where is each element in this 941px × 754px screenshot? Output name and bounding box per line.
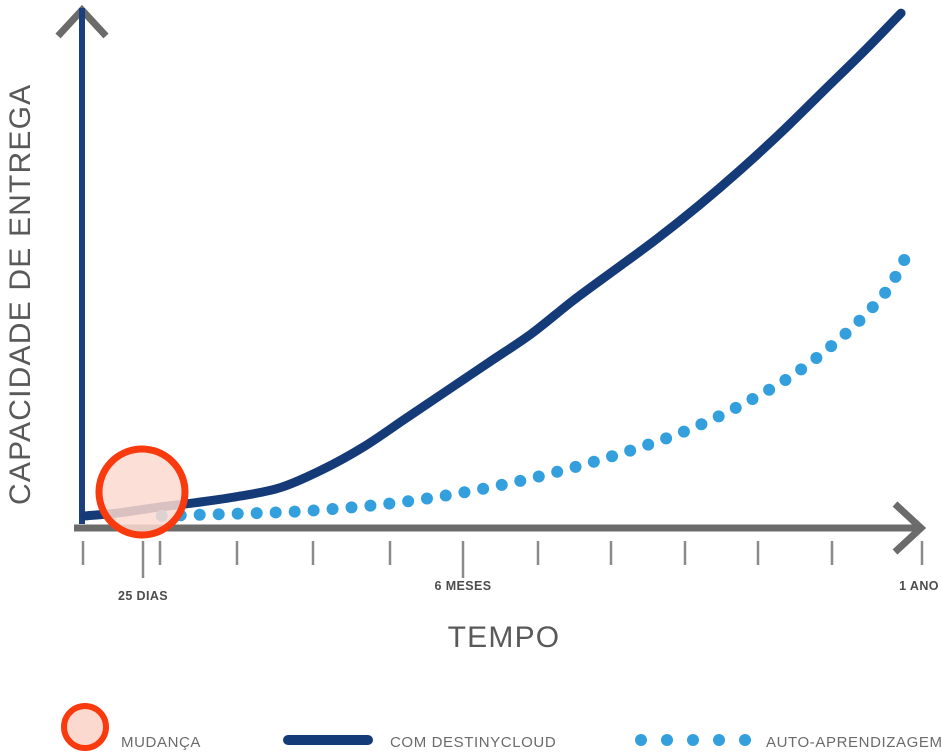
x-tick-label-end: 1 ANO bbox=[899, 579, 939, 593]
legend-item-mudanca[interactable]: MUDANÇA bbox=[64, 706, 201, 751]
dotted-line-icon bbox=[635, 734, 751, 746]
x-axis-major-ticks bbox=[143, 541, 463, 578]
series-line-com-destinycloud bbox=[85, 13, 901, 516]
x-axis-label: TEMPO bbox=[448, 621, 561, 654]
legend-label-com-destinycloud: COM DESTINYCLOUD bbox=[390, 734, 556, 751]
mudanca-highlight-circle[interactable] bbox=[99, 449, 185, 535]
y-axis-label: CAPACIDADE DE ENTREGA bbox=[4, 84, 37, 505]
chart-legend: MUDANÇA COM DESTINYCLOUD AUTO-APRENDIZAG… bbox=[64, 706, 941, 751]
circle-outline-icon bbox=[64, 706, 106, 748]
legend-item-auto-aprendizagem[interactable]: AUTO-APRENDIZAGEM bbox=[635, 734, 941, 751]
series-dots-auto-aprendizagem bbox=[156, 254, 910, 522]
x-tick-label-start: 25 DIAS bbox=[118, 589, 168, 603]
legend-item-com-destinycloud[interactable]: COM DESTINYCLOUD bbox=[288, 734, 556, 751]
x-tick-label-middle: 6 MESES bbox=[435, 579, 492, 593]
legend-label-mudanca: MUDANÇA bbox=[121, 734, 201, 751]
legend-label-auto-aprendizagem: AUTO-APRENDIZAGEM bbox=[766, 734, 941, 751]
x-axis-minor-ticks bbox=[83, 541, 922, 565]
capacity-over-time-chart: CAPACIDADE DE ENTREGA bbox=[0, 0, 941, 754]
chart-container: CAPACIDADE DE ENTREGA bbox=[0, 0, 941, 754]
